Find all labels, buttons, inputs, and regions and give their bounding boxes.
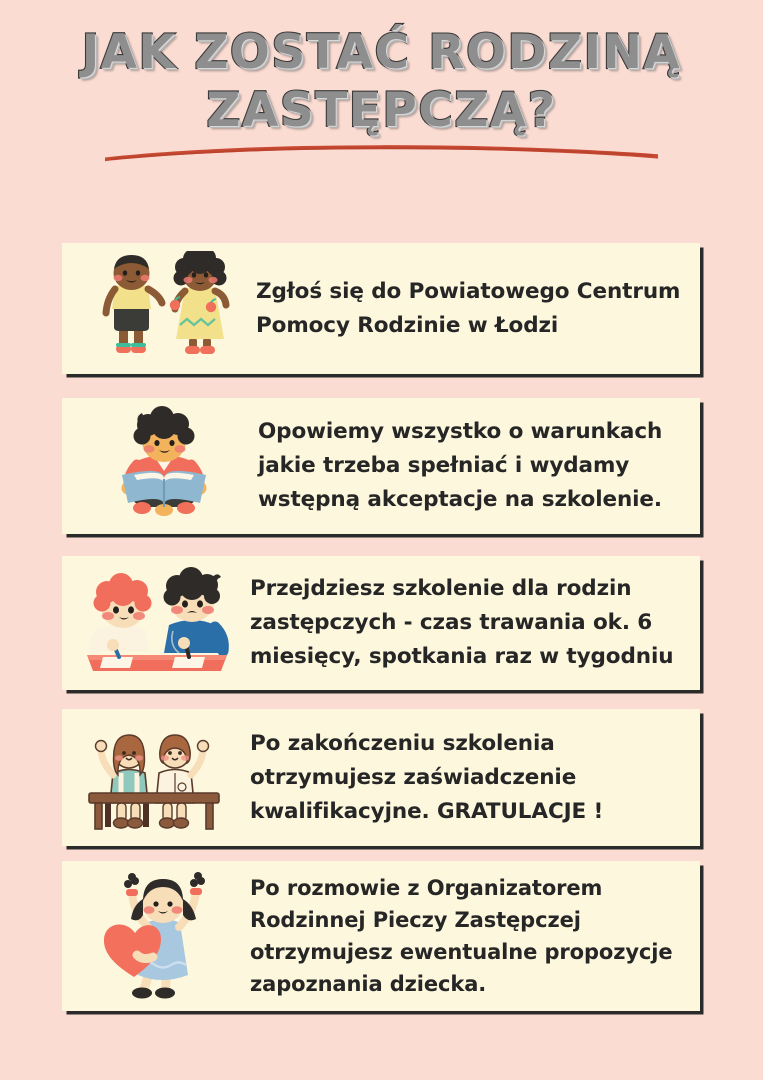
- step-card-2-text: Opowiemy wszystko o warunkach jakie trze…: [258, 415, 662, 517]
- two-children-with-apples-illustration: [84, 251, 244, 366]
- step-card-5-text: Po rozmowie z Organizatorem Rodzinnej Pi…: [250, 872, 673, 1000]
- title-line-1: JAK ZOSTAĆ RODZINĄ: [0, 24, 763, 82]
- step-card-2: Opowiemy wszystko o warunkach jakie trze…: [62, 398, 700, 534]
- two-children-writing-at-desk-illustration: [78, 563, 238, 683]
- poster-title: JAK ZOSTAĆ RODZINĄ ZASTĘPCZĄ?: [0, 24, 763, 140]
- right-girl: [156, 735, 209, 828]
- left-girl: [96, 735, 149, 828]
- girl-holding-heart-illustration: [78, 871, 238, 1001]
- title-line-2: ZASTĘPCZĄ?: [0, 82, 763, 140]
- step-card-3: Przejdziesz szkolenie dla rodzin zastępc…: [62, 556, 700, 690]
- step-card-4: Po zakończeniu szkolenia otrzymujesz zaś…: [62, 709, 700, 846]
- step-card-1: Zgłoś się do Powiatowego Centrum Pomocy …: [62, 243, 700, 374]
- step-card-5: Po rozmowie z Organizatorem Rodzinnej Pi…: [62, 861, 700, 1011]
- step-card-3-text: Przejdziesz szkolenie dla rodzin zastępc…: [250, 572, 673, 674]
- child-reading-book-illustration: [84, 405, 244, 527]
- red-brushstroke-underline-icon: [103, 142, 660, 162]
- girl-figure: [170, 251, 227, 354]
- poster-root: JAK ZOSTAĆ RODZINĄ ZASTĘPCZĄ?: [0, 0, 763, 1080]
- step-card-4-text: Po zakończeniu szkolenia otrzymujesz zaś…: [250, 727, 603, 829]
- two-girls-raising-hands-at-desk-illustration: [78, 719, 238, 837]
- boy-figure: [106, 255, 162, 353]
- step-card-1-text: Zgłoś się do Powiatowego Centrum Pomocy …: [256, 275, 680, 343]
